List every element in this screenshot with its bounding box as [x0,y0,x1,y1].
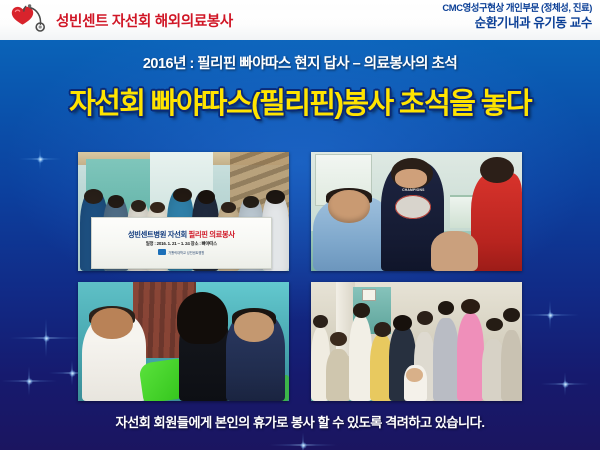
presenter-name: 순환기내과 유기동 교수 [442,16,592,30]
photo-hair-care[interactable] [78,282,289,401]
banner-line1-black: 성빈센트병원 자선회 [128,230,187,239]
slide-main-title: 자선회 빠야따스(필리핀)봉사 초석을 놓다 [0,80,600,122]
banner-line3: 가톨릭대학교 성빈센트병원 [158,249,204,255]
slide-caption: 자선회 회원들에게 본인의 휴가로 봉사 할 수 있도록 격려하고 있습니다. [0,412,600,431]
photo4-crowd [311,282,522,401]
photo-grid: 성빈센트병원 자선회 필리핀 의료봉사 일정 : 2016. 1. 21 ~ 1… [78,152,522,401]
photo2-subjects: CHAMPIONS [311,152,522,271]
photo1-banner: 성빈센트병원 자선회 필리핀 의료봉사 일정 : 2016. 1. 21 ~ 1… [91,217,272,269]
slide-header: 성빈센트 자선회 해외의료봉사 CMC영성구현상 개인부문 (정체성, 진료) … [0,0,600,40]
heart-stethoscope-icon [8,3,50,37]
banner-line1: 성빈센트병원 자선회 필리핀 의료봉사 [128,230,235,240]
photo2-shirt-text: CHAMPIONS [387,189,440,195]
photo3-subjects [78,282,289,401]
banner-line1-red: 필리핀 의료봉사 [189,230,235,239]
title-block: 2016년 : 필리핀 빠야따스 현지 답사 – 의료봉사의 초석 자선회 빠야… [0,52,600,122]
photo-group-banner[interactable]: 성빈센트병원 자선회 필리핀 의료봉사 일정 : 2016. 1. 21 ~ 1… [78,152,289,271]
slide-subtitle: 2016년 : 필리핀 빠야따스 현지 답사 – 의료봉사의 초석 [0,52,600,73]
banner-hospital-name: 가톨릭대학교 성빈센트병원 [168,250,204,255]
photo-clinic-crowd[interactable] [311,282,522,401]
presenter-info: CMC영성구현상 개인부문 (정체성, 진료) 순환기내과 유기동 교수 [442,3,592,30]
photo-doctor-exam[interactable]: CHAMPIONS [311,152,522,271]
presentation-slide: 성빈센트 자선회 해외의료봉사 CMC영성구현상 개인부문 (정체성, 진료) … [0,0,600,450]
banner-line2: 일정 : 2016. 1. 21 ~ 1. 24 장소 : 빠야따스 [146,241,217,247]
presenter-category: CMC영성구현상 개인부문 (정체성, 진료) [442,3,592,14]
hospital-logo-icon [158,249,166,255]
org-title: 성빈센트 자선회 해외의료봉사 [56,10,233,31]
header-branding: 성빈센트 자선회 해외의료봉사 [8,3,233,37]
